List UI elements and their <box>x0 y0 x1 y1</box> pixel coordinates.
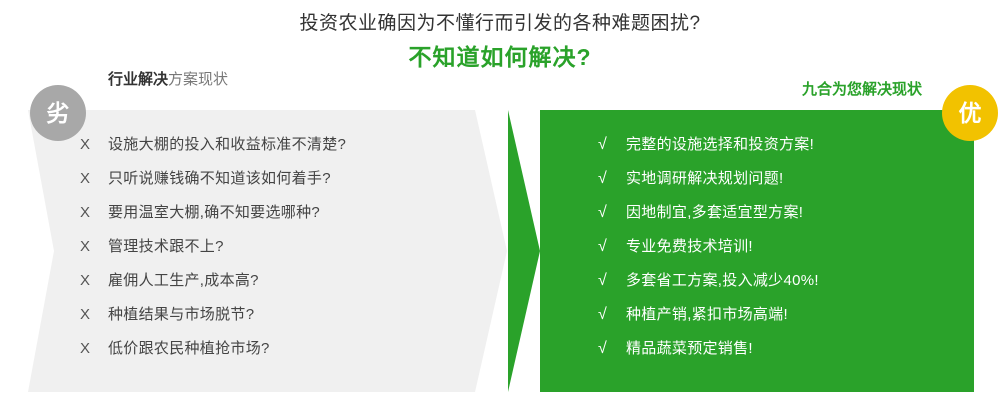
list-item: X 种植结果与市场脱节? <box>80 304 460 338</box>
cross-icon: X <box>80 272 108 289</box>
problems-list: X 设施大棚的投入和收益标准不清楚? X 只听说赚钱确不知道该如何着手? X 要… <box>80 134 460 372</box>
list-item-label: 精品蔬菜预定销售! <box>626 338 753 360</box>
list-item: √ 专业免费技术培训! <box>598 236 968 270</box>
list-item: X 管理技术跟不上? <box>80 236 460 270</box>
list-item: √ 精品蔬菜预定销售! <box>598 338 968 372</box>
list-item: X 只听说赚钱确不知道该如何着手? <box>80 168 460 202</box>
problems-caption: 行业解决方案现状 <box>108 70 228 90</box>
list-item-label: 设施大棚的投入和收益标准不清楚? <box>108 134 346 156</box>
list-item: √ 实地调研解决规划问题! <box>598 168 968 202</box>
list-item: √ 多套省工方案,投入减少40%! <box>598 270 968 304</box>
list-item-label: 管理技术跟不上? <box>108 236 224 258</box>
list-item-label: 低价跟农民种植抢市场? <box>108 338 270 360</box>
check-icon: √ <box>598 204 626 222</box>
list-item: X 雇佣人工生产,成本高? <box>80 270 460 304</box>
list-item: √ 完整的设施选择和投资方案! <box>598 134 968 168</box>
check-icon: √ <box>598 306 626 324</box>
badge-superior: 优 <box>942 85 998 141</box>
list-item-label: 只听说赚钱确不知道该如何着手? <box>108 168 331 190</box>
list-item: √ 种植产销,紧扣市场高端! <box>598 304 968 338</box>
problems-caption-plain: 方案现状 <box>168 71 228 88</box>
cross-icon: X <box>80 136 108 153</box>
list-item: X 低价跟农民种植抢市场? <box>80 338 460 372</box>
solutions-panel-notch <box>508 110 540 392</box>
list-item-label: 多套省工方案,投入减少40%! <box>626 270 819 292</box>
check-icon: √ <box>598 340 626 358</box>
list-item-label: 因地制宜,多套适宜型方案! <box>626 202 803 224</box>
headline: 投资农业确因为不懂行而引发的各种难题困扰? 不知道如何解决? <box>0 10 1000 74</box>
list-item-label: 种植产销,紧扣市场高端! <box>626 304 788 326</box>
list-item-label: 种植结果与市场脱节? <box>108 304 254 326</box>
cross-icon: X <box>80 204 108 221</box>
solutions-list: √ 完整的设施选择和投资方案! √ 实地调研解决规划问题! √ 因地制宜,多套适… <box>598 134 968 372</box>
list-item-label: 专业免费技术培训! <box>626 236 753 258</box>
cross-icon: X <box>80 238 108 255</box>
headline-line-1: 投资农业确因为不懂行而引发的各种难题困扰? <box>0 10 1000 38</box>
list-item-label: 雇佣人工生产,成本高? <box>108 270 259 292</box>
list-item: X 设施大棚的投入和收益标准不清楚? <box>80 134 460 168</box>
solutions-caption: 九合为您解决现状 <box>802 80 922 100</box>
list-item: X 要用温室大棚,确不知要选哪种? <box>80 202 460 236</box>
problems-panel-notch <box>28 110 54 392</box>
infographic-stage: 投资农业确因为不懂行而引发的各种难题困扰? 不知道如何解决? 劣 优 行业解决方… <box>0 0 1000 416</box>
cross-icon: X <box>80 170 108 187</box>
list-item-label: 完整的设施选择和投资方案! <box>626 134 814 156</box>
list-item: √ 因地制宜,多套适宜型方案! <box>598 202 968 236</box>
problems-panel-arrow <box>475 110 507 392</box>
check-icon: √ <box>598 136 626 154</box>
check-icon: √ <box>598 238 626 256</box>
problems-caption-strong: 行业解决 <box>108 71 168 88</box>
cross-icon: X <box>80 306 108 323</box>
check-icon: √ <box>598 170 626 188</box>
list-item-label: 要用温室大棚,确不知要选哪种? <box>108 202 320 224</box>
check-icon: √ <box>598 272 626 290</box>
headline-line-2: 不知道如何解决? <box>0 40 1000 74</box>
badge-inferior: 劣 <box>30 85 86 141</box>
list-item-label: 实地调研解决规划问题! <box>626 168 783 190</box>
cross-icon: X <box>80 340 108 357</box>
